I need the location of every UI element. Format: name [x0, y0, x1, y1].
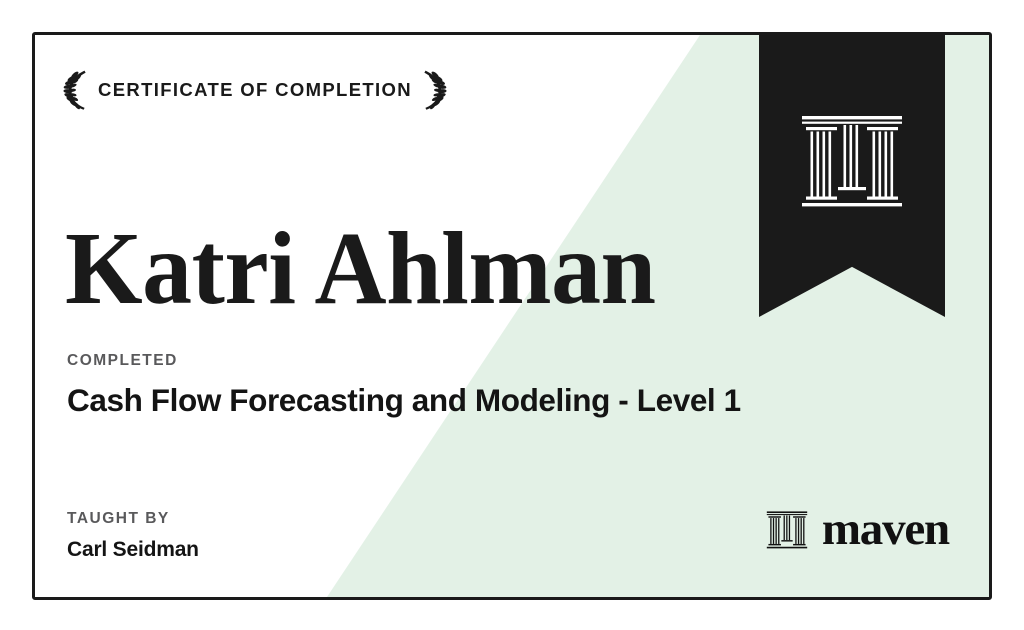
laurel-branch-right-icon: [421, 69, 447, 111]
taught-by-section: TAUGHT BY Carl Seidman: [67, 511, 199, 560]
certificate-eyebrow-label: CERTIFICATE OF COMPLETION: [98, 81, 412, 100]
laurel-branch-left-icon: [63, 69, 89, 111]
completed-section: COMPLETED Cash Flow Forecasting and Mode…: [67, 353, 741, 417]
certificate-card: CERTIFICATE OF COMPLETION: [32, 32, 992, 600]
course-title: Cash Flow Forecasting and Modeling - Lev…: [67, 383, 741, 418]
maven-brand-lockup: maven: [766, 506, 949, 553]
maven-wordmark: maven: [822, 506, 949, 553]
maven-columns-logo-icon: [766, 509, 808, 551]
certificate-canvas: CERTIFICATE OF COMPLETION: [0, 0, 1024, 630]
maven-columns-emblem-icon: [800, 110, 904, 214]
certificate-eyebrow: CERTIFICATE OF COMPLETION: [63, 69, 447, 111]
instructor-name: Carl Seidman: [67, 539, 199, 560]
completed-label: COMPLETED: [67, 353, 741, 369]
taught-by-label: TAUGHT BY: [67, 511, 199, 527]
recipient-name: Katri Ahlman: [65, 213, 656, 325]
